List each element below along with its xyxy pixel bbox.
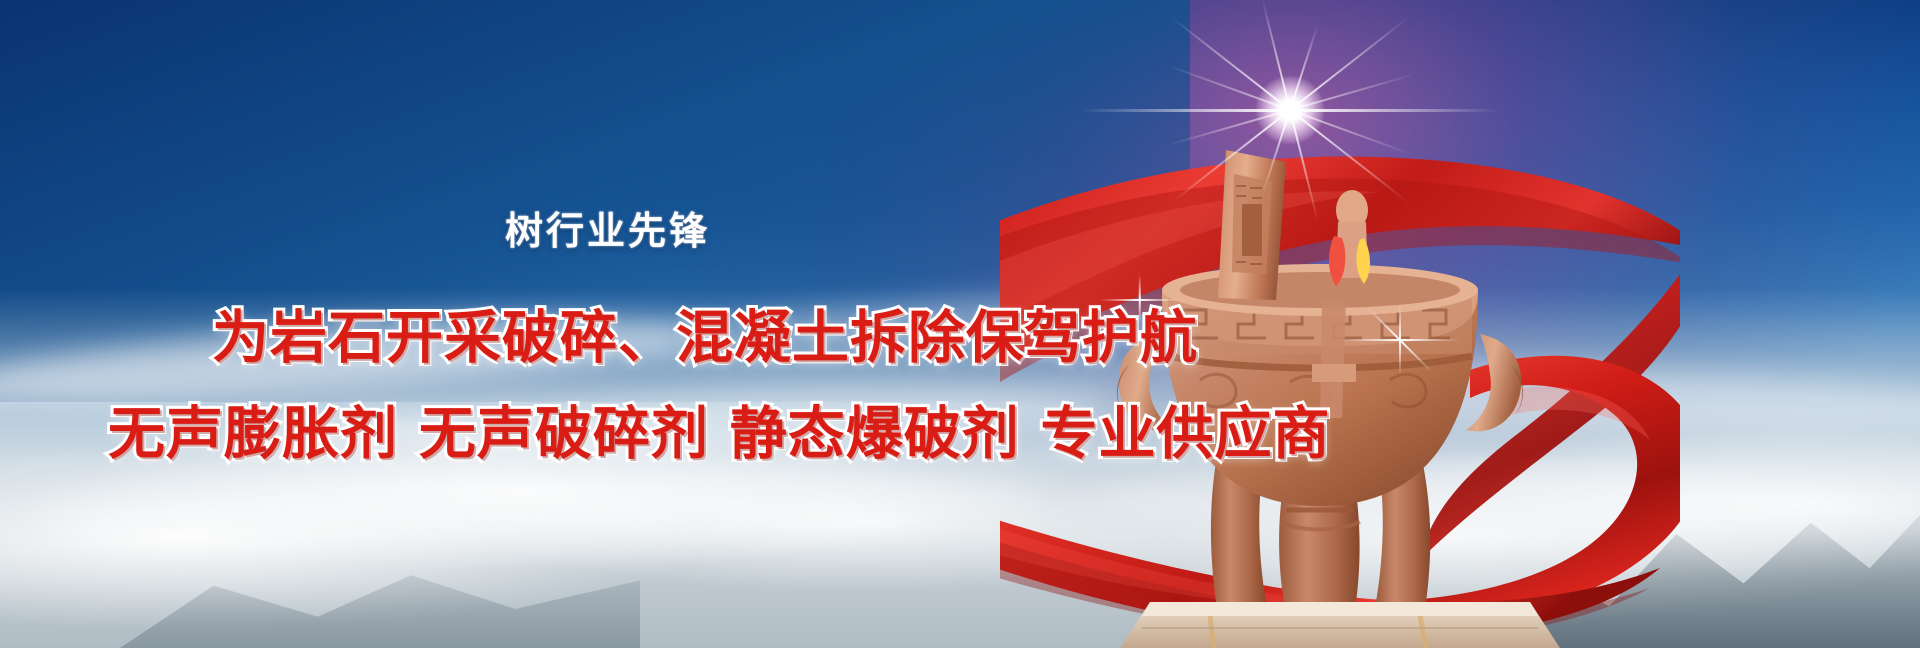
banner-headline: 为岩石开采破碎、混凝土拆除保驾护航 xyxy=(212,292,1198,374)
banner-copy: 树行业先锋 为岩石开采破碎、混凝土拆除保驾护航 无声膨胀剂 无声破碎剂 静态爆破… xyxy=(0,0,1920,648)
banner-subline: 无声膨胀剂 无声破碎剂 静态爆破剂 专业供应商 xyxy=(108,388,1331,470)
hero-banner: 树行业先锋 为岩石开采破碎、混凝土拆除保驾护航 无声膨胀剂 无声破碎剂 静态爆破… xyxy=(0,0,1920,648)
banner-kicker: 树行业先锋 xyxy=(505,200,710,255)
